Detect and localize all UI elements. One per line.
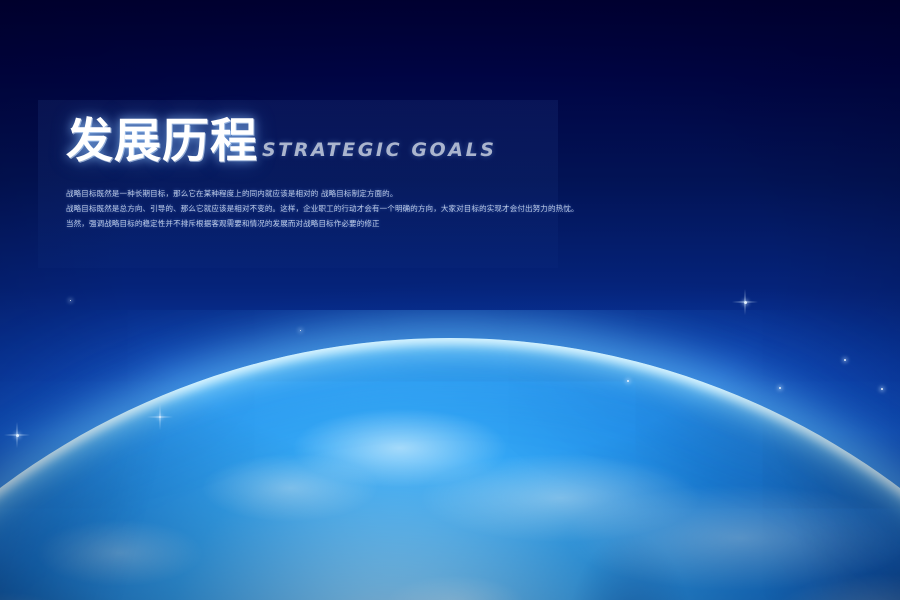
star-icon	[159, 416, 161, 418]
star-icon	[779, 387, 781, 389]
body-copy: 战略目标既然是一种长期目标，那么它在某种程度上的同内就应该是相对的 战略目标制定…	[66, 186, 866, 231]
star-icon	[16, 434, 19, 437]
star-icon	[844, 359, 846, 361]
star-icon	[300, 330, 301, 331]
body-line: 战略目标既然是一种长期目标，那么它在某种程度上的同内就应该是相对的 战略目标制定…	[66, 186, 866, 201]
vignette-overlay	[0, 0, 900, 600]
strategic-goals-banner: 发展历程 STRATEGIC GOALS 战略目标既然是一种长期目标，那么它在某…	[0, 0, 900, 600]
headline-group: 发展历程 STRATEGIC GOALS	[66, 118, 497, 165]
page-title: 发展历程	[66, 118, 258, 165]
star-icon	[627, 380, 629, 382]
star-icon	[70, 300, 71, 301]
star-icon	[744, 301, 747, 304]
star-icon	[881, 388, 883, 390]
body-line: 当然，强调战略目标的稳定性并不排斥根据客观需要和情况的发展而对战略目标作必要的修…	[66, 216, 866, 231]
body-line: 战略目标既然是总方向、引导的、那么它就应该是相对不变的。这样，企业职工的行动才会…	[66, 201, 866, 216]
page-subtitle: STRATEGIC GOALS	[262, 139, 497, 161]
